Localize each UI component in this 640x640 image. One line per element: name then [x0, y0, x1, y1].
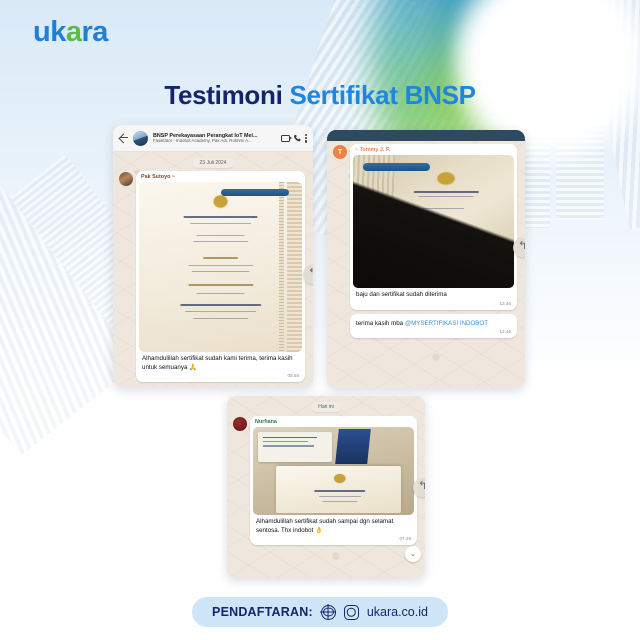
certificate-image [253, 427, 414, 515]
forward-icon[interactable] [513, 238, 525, 257]
certificate-photo[interactable] [139, 182, 302, 352]
scroll-to-bottom-icon[interactable]: ⌄ [405, 546, 421, 562]
message-text: Alhamdulillah sertifikat sudah sampai dg… [253, 515, 414, 536]
chat-subtitle: Fasilitator - Indobot Academy, Pak Adi, … [153, 139, 277, 144]
globe-icon[interactable] [321, 605, 336, 620]
message-time: 09.56 [139, 373, 302, 379]
certificate-photo[interactable] [353, 155, 514, 288]
more-options-icon[interactable] [305, 134, 307, 143]
message-text-plain: terima kasih mba [356, 320, 405, 327]
chat-screenshot-card-2: T ~ Tommy J. P. baju dan serti [327, 130, 525, 388]
message-row: Nurfiana Alhamdulillah sertifikat sudah … [233, 416, 417, 545]
sender-name: Nurfiana [253, 419, 414, 427]
voice-call-icon[interactable] [294, 135, 301, 142]
chat-screenshot-card-1: BNSP Perekayasaan Perangkat IoT Mei... F… [113, 125, 313, 387]
message-text: baju dan sertifikat sudah diterima [353, 288, 514, 301]
registration-cta[interactable]: PENDAFTARAN: ukara.co.id [192, 597, 448, 627]
avatar[interactable] [119, 172, 133, 186]
message-bubble[interactable]: terima kasih mba @MYSERTIFIKASI INDOBOT … [350, 314, 517, 339]
chat-screenshot-card-3: Hari ini Nurfiana Alhamdulillah [227, 396, 425, 578]
message-text: terima kasih mba @MYSERTIFIKASI INDOBOT [353, 317, 514, 330]
message-row: Pak Sutoyo ~ [119, 171, 305, 382]
message-bubble[interactable]: Pak Sutoyo ~ [136, 171, 305, 382]
page-title-part-1: Testimoni [164, 80, 282, 110]
cta-label: PENDAFTARAN: [212, 605, 313, 619]
message-time: 13.46 [353, 329, 514, 335]
back-arrow-icon[interactable] [118, 133, 129, 144]
instagram-icon[interactable] [344, 605, 359, 620]
redacted-bar [363, 163, 431, 171]
message-bubble[interactable]: ~ Tommy J. P. baju dan sertifikat sudah … [350, 144, 517, 310]
chat-header: BNSP Perekayasaan Perangkat IoT Mei... F… [113, 125, 313, 152]
cta-website[interactable]: ukara.co.id [367, 605, 428, 619]
logo-part-3: ra [81, 16, 107, 48]
page-title-part-2: Sertifikat BNSP [289, 80, 475, 110]
date-chip: 23 Juli 2024 [193, 158, 234, 168]
forward-icon[interactable] [413, 478, 425, 497]
certificate-image [139, 182, 302, 352]
redacted-bar [221, 189, 289, 196]
sender-name: ~ Tommy J. P. [353, 147, 514, 155]
ukara-logo: ukara [33, 18, 108, 47]
sender-name: Pak Sutoyo ~ [139, 174, 302, 182]
status-bar [327, 130, 525, 141]
video-call-icon[interactable] [281, 135, 290, 142]
message-time: 13.46 [353, 301, 514, 307]
message-row: T ~ Tommy J. P. baju dan serti [333, 144, 517, 338]
avatar[interactable]: T [333, 145, 347, 159]
mention-link[interactable]: @MYSERTIFIKASI INDOBOT [405, 320, 488, 327]
message-text: Alhamdulillah sertifikat sudah kami teri… [139, 352, 302, 373]
certificate-image [353, 155, 514, 288]
logo-part-1: uk [33, 16, 66, 48]
page-title: Testimoni Sertifikat BNSP [0, 82, 640, 108]
message-bubble[interactable]: Nurfiana Alhamdulillah sertifikat sudah … [250, 416, 417, 545]
avatar[interactable] [233, 417, 247, 431]
date-chip: Hari ini [311, 402, 341, 412]
group-avatar[interactable] [133, 131, 148, 146]
logo-part-accent: a [66, 16, 82, 48]
certificate-photo[interactable] [253, 427, 414, 515]
message-time: 07.29 [253, 536, 414, 542]
